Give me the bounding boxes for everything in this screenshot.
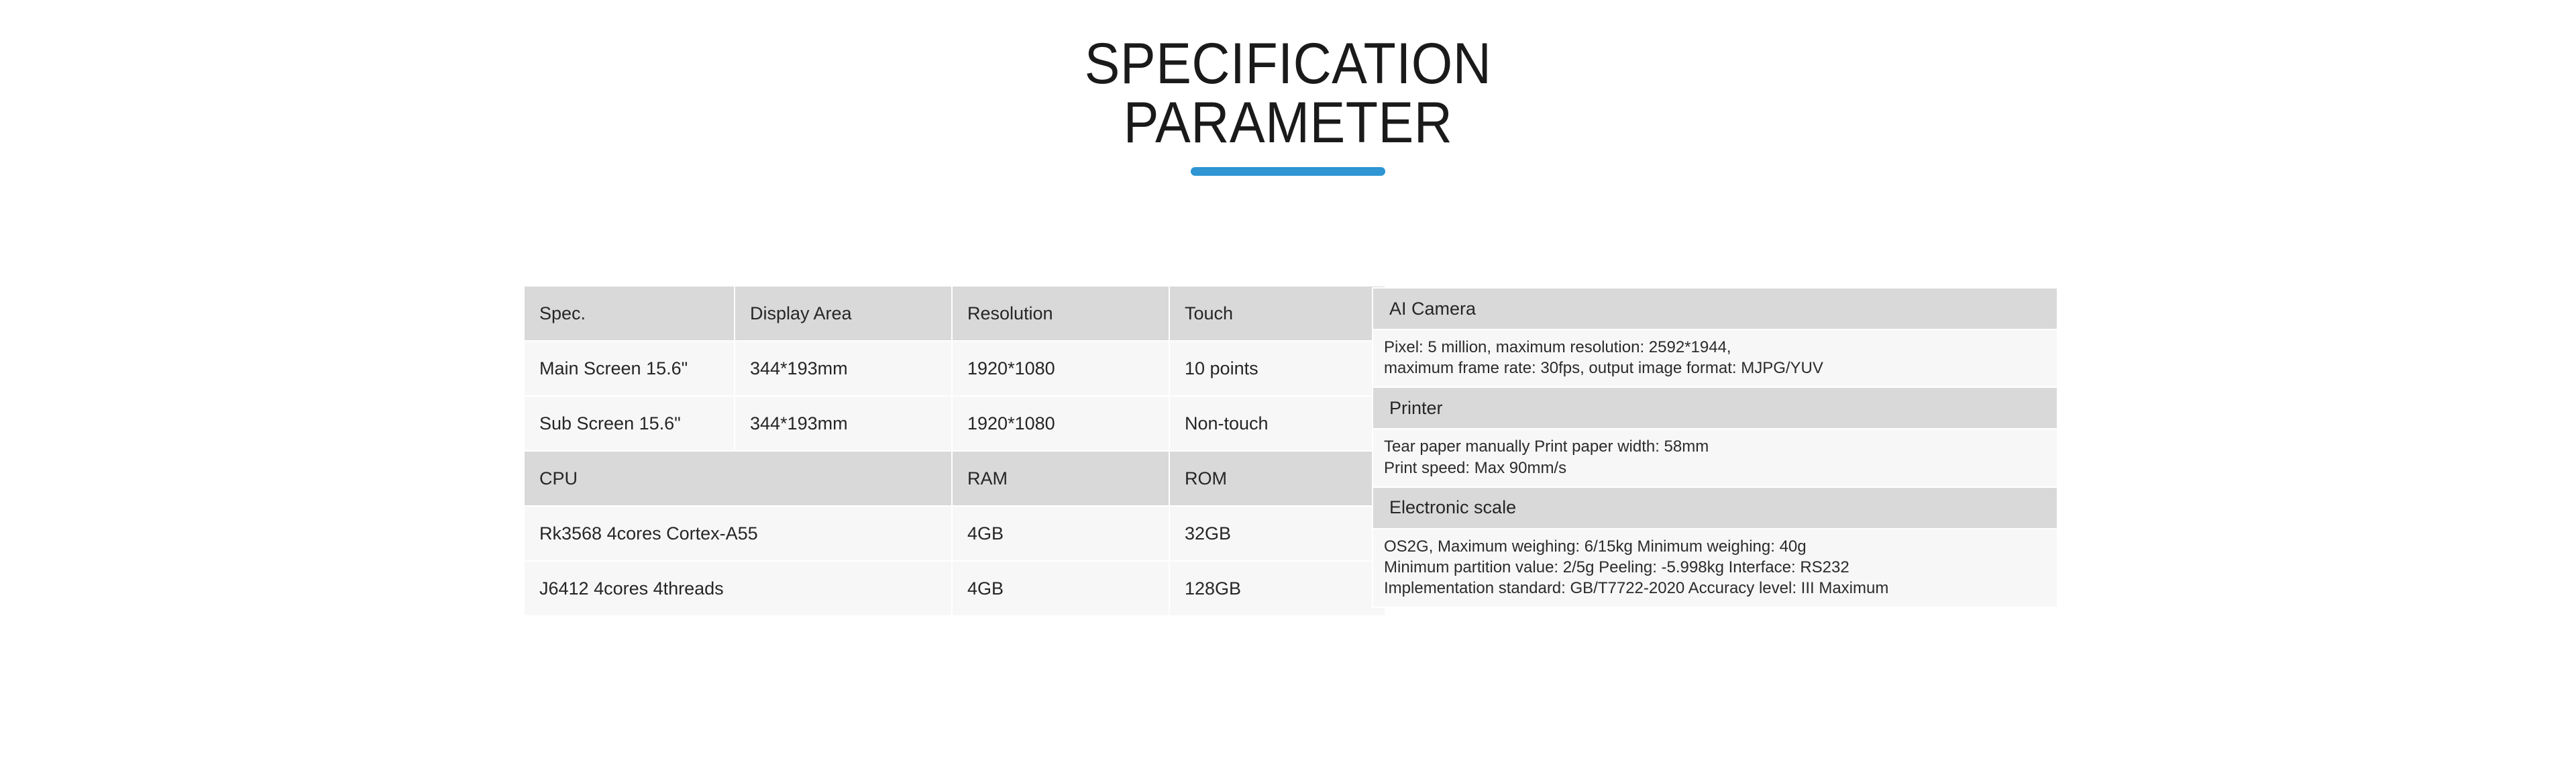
table-row: Rk3568 4cores Cortex-A55 4GB 32GB Androi… <box>524 506 1385 561</box>
screen-and-cpu-spec-table: Spec. Display Area Resolution Touch Main… <box>523 285 1386 617</box>
cell-rom: 128GB <box>1169 561 1385 616</box>
section-heading-electronic-scale: Electronic scale <box>1373 487 2057 529</box>
cell-resolution: 1920*1080 <box>952 341 1169 396</box>
cell-cpu: Rk3568 4cores Cortex-A55 <box>524 506 952 561</box>
page-title-line-2: PARAMETER <box>103 94 2473 153</box>
cell-ram: 4GB <box>952 506 1169 561</box>
table-row: Main Screen 15.6" 344*193mm 1920*1080 10… <box>524 341 1385 396</box>
header-cell-spec: Spec. <box>524 286 735 341</box>
section-header-row-electronic-scale: Electronic scale <box>1373 487 2057 529</box>
header-cell-ram: RAM <box>952 451 1169 506</box>
header-cell-touch: Touch <box>1169 286 1385 341</box>
title-accent-underline <box>1191 167 1385 176</box>
header-cell-rom: ROM <box>1169 451 1385 506</box>
section-body-printer: Tear paper manually Print paper width: 5… <box>1373 429 2057 486</box>
cell-display-area: 344*193mm <box>735 396 952 451</box>
section-body-row-electronic-scale: OS2G, Maximum weighing: 6/15kg Minimum w… <box>1373 529 2057 608</box>
cell-rom: 32GB <box>1169 506 1385 561</box>
header-cell-resolution: Resolution <box>952 286 1169 341</box>
section-body-ai-camera: Pixel: 5 million, maximum resolution: 25… <box>1373 329 2057 387</box>
section-body-row-ai-camera: Pixel: 5 million, maximum resolution: 25… <box>1373 329 2057 387</box>
page-title-block: SPECIFICATION PARAMETER <box>0 35 2576 176</box>
cell-display-area: 344*193mm <box>735 341 952 396</box>
cell-touch: Non-touch <box>1169 396 1385 451</box>
section-heading-ai-camera: AI Camera <box>1373 288 2057 329</box>
table-row: Sub Screen 15.6" 344*193mm 1920*1080 Non… <box>524 396 1385 451</box>
header-cell-cpu: CPU <box>524 451 952 506</box>
table-row: J6412 4cores 4threads 4GB 128GB WIN 10 <box>524 561 1385 616</box>
cell-resolution: 1920*1080 <box>952 396 1169 451</box>
cell-ram: 4GB <box>952 561 1169 616</box>
header-cell-display-area: Display Area <box>735 286 952 341</box>
page-title-line-1: SPECIFICATION <box>103 35 2473 94</box>
section-heading-printer: Printer <box>1373 387 2057 429</box>
section-header-row-ai-camera: AI Camera <box>1373 288 2057 329</box>
peripherals-spec-table: AI Camera Pixel: 5 million, maximum reso… <box>1372 287 2058 608</box>
cell-touch: 10 points <box>1169 341 1385 396</box>
cell-spec: Sub Screen 15.6" <box>524 396 735 451</box>
section-body-row-printer: Tear paper manually Print paper width: 5… <box>1373 429 2057 486</box>
table-header-row-screen: Spec. Display Area Resolution Touch <box>524 286 1385 341</box>
cell-cpu: J6412 4cores 4threads <box>524 561 952 616</box>
table-header-row-cpu: CPU RAM ROM OS <box>524 451 1385 506</box>
cell-spec: Main Screen 15.6" <box>524 341 735 396</box>
section-header-row-printer: Printer <box>1373 387 2057 429</box>
section-body-electronic-scale: OS2G, Maximum weighing: 6/15kg Minimum w… <box>1373 529 2057 608</box>
